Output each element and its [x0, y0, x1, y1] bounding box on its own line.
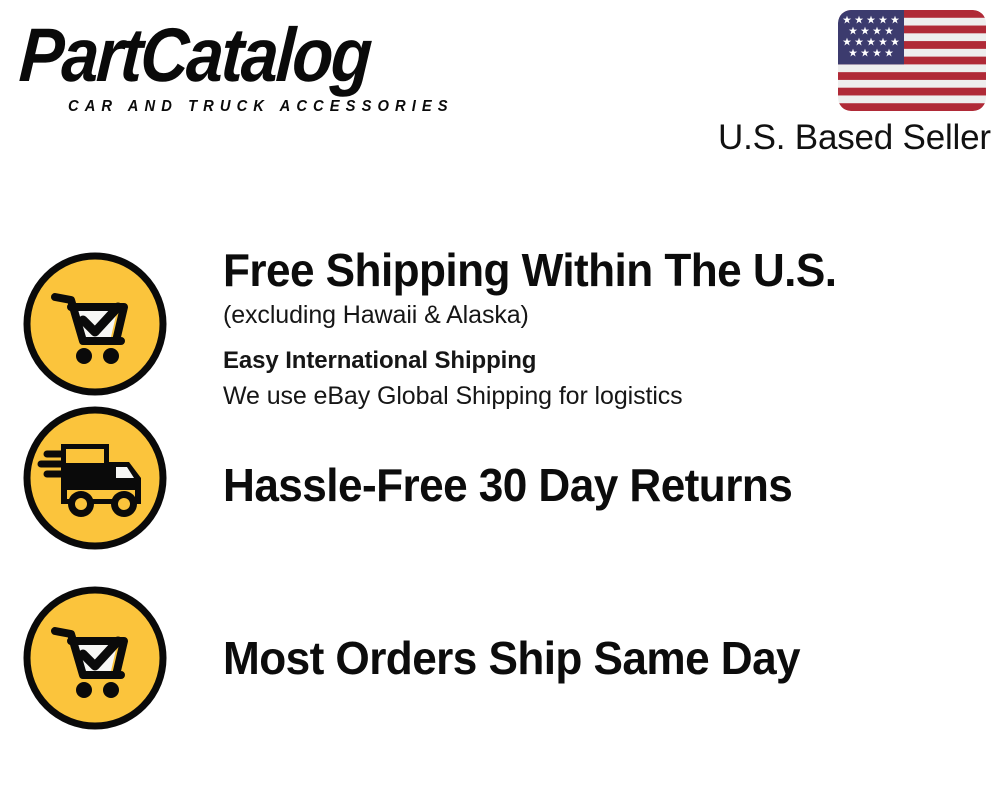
- feature-list: Free Shipping Within The U.S. (excluding…: [0, 232, 1000, 734]
- feature-row: Most Orders Ship Same Day: [0, 574, 1000, 734]
- feature-subline: (excluding Hawaii & Alaska): [223, 299, 1000, 331]
- feature-headline: Most Orders Ship Same Day: [223, 632, 969, 684]
- feature-headline: Hassle-Free 30 Day Returns: [223, 459, 969, 511]
- feature-row: Hassle-Free 30 Day Returns: [0, 404, 1000, 574]
- us-based-seller-badge: U.S. Based Seller: [718, 10, 986, 158]
- feature-text-wrap: Free Shipping Within The U.S. (excluding…: [190, 232, 1000, 412]
- shopping-cart-check-icon: [21, 250, 169, 398]
- brand-tagline: CAR AND TRUCK ACCESSORIES: [68, 98, 454, 116]
- delivery-truck-icon: [21, 404, 169, 552]
- shopping-cart-check-icon: [21, 584, 169, 732]
- us-flag-icon: [838, 10, 986, 111]
- feature-text-wrap: Hassle-Free 30 Day Returns: [190, 404, 1000, 511]
- brand-wordmark: PartCatalog: [17, 18, 372, 94]
- feature-row: Free Shipping Within The U.S. (excluding…: [0, 232, 1000, 404]
- feature-subline-bold: Easy International Shipping: [223, 345, 1000, 377]
- feature-text-wrap: Most Orders Ship Same Day: [190, 574, 1000, 684]
- us-based-seller-label: U.S. Based Seller: [718, 118, 986, 158]
- feature-icon-wrap: [0, 574, 190, 732]
- feature-headline: Free Shipping Within The U.S.: [223, 244, 969, 296]
- feature-icon-wrap: [0, 404, 190, 552]
- seller-info-banner: PartCatalog CAR AND TRUCK ACCESSORIES: [0, 0, 1000, 800]
- feature-icon-wrap: [0, 232, 190, 398]
- brand-logo: PartCatalog CAR AND TRUCK ACCESSORIES: [22, 18, 492, 116]
